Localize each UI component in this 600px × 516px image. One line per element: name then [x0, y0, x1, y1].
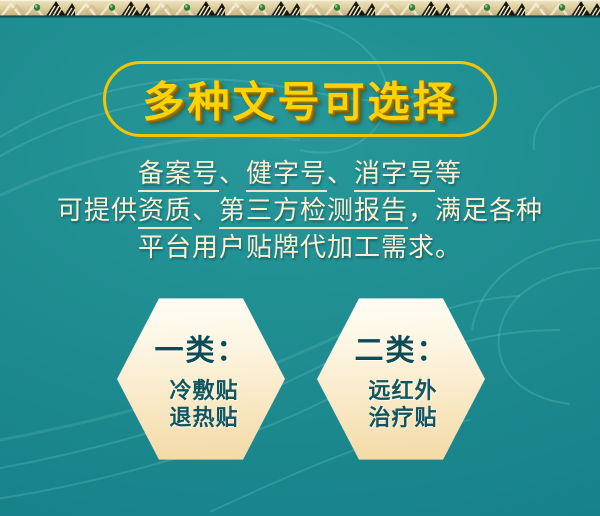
description-emphasis: 第三方检测报告 — [219, 196, 408, 229]
description-text: 平台用户贴牌代加工需求。 — [138, 233, 462, 263]
promo-poster: 多种文号可选择 备案号、健字号、消字号等 可提供资质、第三方检测报告，满足各种 … — [0, 0, 600, 516]
title-pill-frame: 多种文号可选择 — [103, 61, 497, 137]
category-two-item: 远红外 — [368, 378, 437, 405]
ornamental-top-border — [0, 0, 600, 17]
category-two-title: 二类： — [354, 327, 447, 369]
description-emphasis: 备案号 — [138, 159, 219, 192]
description-emphasis: 健字号 — [246, 159, 327, 192]
description-text: 可提供 — [57, 196, 138, 226]
description-emphasis: 消字号 — [354, 159, 435, 192]
category-two-items: 远红外 治疗贴 — [368, 378, 437, 432]
category-two-item: 治疗贴 — [368, 405, 437, 432]
category-one-title: 一类： — [154, 327, 247, 369]
description-line: 平台用户贴牌代加工需求。 — [0, 230, 600, 267]
description-line: 备案号、健字号、消字号等 — [0, 156, 600, 193]
description-text: 、 — [327, 159, 354, 189]
description-text: 、 — [219, 159, 246, 189]
description-text: 等 — [435, 159, 462, 189]
page-title: 多种文号可选择 — [106, 69, 494, 130]
category-one-item: 冷敷贴 — [169, 378, 238, 405]
description-emphasis: 资质 — [138, 196, 192, 229]
category-one-item: 退热贴 — [169, 405, 238, 432]
description-text: 、 — [192, 196, 219, 226]
description-block: 备案号、健字号、消字号等 可提供资质、第三方检测报告，满足各种 平台用户贴牌代加… — [0, 156, 600, 267]
description-line: 可提供资质、第三方检测报告，满足各种 — [0, 193, 600, 230]
category-one-items: 冷敷贴 退热贴 — [169, 378, 238, 432]
description-text: ，满足各种 — [408, 196, 543, 226]
